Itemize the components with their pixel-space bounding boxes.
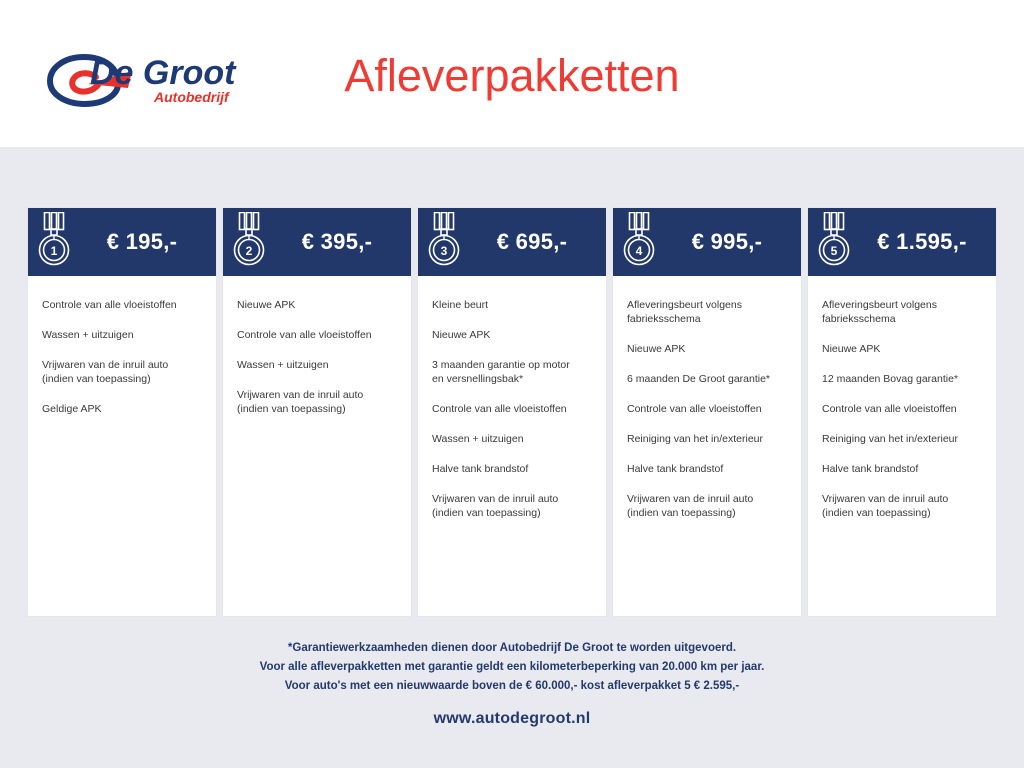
feature-item: Vrijwaren van de inruil auto (indien van… (237, 388, 397, 416)
medal-icon-4: 4 (623, 212, 659, 274)
feature-item: Vrijwaren van de inruil auto (indien van… (822, 492, 982, 520)
package-features-1: Controle van alle vloeistoffen Wassen + … (28, 276, 216, 616)
package-header-2: 2 € 395,- (223, 208, 411, 276)
package-features-4: Afleveringsbeurt volgens fabrieksschema … (613, 276, 801, 616)
feature-item: Wassen + uitzuigen (42, 328, 202, 342)
package-card-1[interactable]: 1 € 195,- Controle van alle vloeistoffen… (28, 208, 216, 616)
feature-item: 6 maanden De Groot garantie* (627, 372, 787, 386)
feature-item: Nieuwe APK (432, 328, 592, 342)
package-card-4[interactable]: 4 € 995,- Afleveringsbeurt volgens fabri… (613, 208, 801, 616)
package-card-5[interactable]: 5 € 1.595,- Afleveringsbeurt volgens fab… (808, 208, 996, 616)
package-cards-row: 1 € 195,- Controle van alle vloeistoffen… (28, 208, 996, 616)
feature-item: Halve tank brandstof (432, 462, 592, 476)
feature-item: Geldige APK (42, 402, 202, 416)
medal-number-5: 5 (831, 244, 838, 258)
feature-item: Controle van alle vloeistoffen (237, 328, 397, 342)
footer-line-2: Voor alle afleverpakketten met garantie … (0, 658, 1024, 677)
package-features-3: Kleine beurt Nieuwe APK 3 maanden garant… (418, 276, 606, 616)
feature-item: Controle van alle vloeistoffen (822, 402, 982, 416)
package-price-4: € 995,- (659, 229, 801, 255)
feature-item: Reiniging van het in/exterieur (627, 432, 787, 446)
feature-item: 12 maanden Bovag garantie* (822, 372, 982, 386)
feature-item: Nieuwe APK (627, 342, 787, 356)
feature-item: Vrijwaren van de inruil auto (indien van… (432, 492, 592, 520)
package-header-1: 1 € 195,- (28, 208, 216, 276)
feature-item: Reiniging van het in/exterieur (822, 432, 982, 446)
feature-item: Wassen + uitzuigen (432, 432, 592, 446)
package-card-3[interactable]: 3 € 695,- Kleine beurt Nieuwe APK 3 maan… (418, 208, 606, 616)
feature-item: Kleine beurt (432, 298, 592, 312)
medal-number-1: 1 (51, 244, 58, 258)
feature-item: 3 maanden garantie op motor en versnelli… (432, 358, 592, 386)
package-price-5: € 1.595,- (854, 229, 996, 255)
medal-number-2: 2 (246, 244, 253, 258)
medal-number-4: 4 (636, 244, 643, 258)
feature-item: Afleveringsbeurt volgens fabrieksschema (822, 298, 982, 326)
medal-number-3: 3 (441, 244, 448, 258)
page-title: Afleverpakketten (0, 50, 1024, 102)
package-features-5: Afleveringsbeurt volgens fabrieksschema … (808, 276, 996, 616)
package-price-1: € 195,- (74, 229, 216, 255)
package-price-2: € 395,- (269, 229, 411, 255)
feature-item: Vrijwaren van de inruil auto (indien van… (627, 492, 787, 520)
feature-item: Halve tank brandstof (822, 462, 982, 476)
package-card-2[interactable]: 2 € 395,- Nieuwe APK Controle van alle v… (223, 208, 411, 616)
feature-item: Halve tank brandstof (627, 462, 787, 476)
medal-icon-5: 5 (818, 212, 854, 274)
feature-item: Afleveringsbeurt volgens fabrieksschema (627, 298, 787, 326)
page-header: De Groot Autobedrijf Afleverpakketten (0, 0, 1024, 147)
feature-item: Controle van alle vloeistoffen (42, 298, 202, 312)
feature-item: Nieuwe APK (237, 298, 397, 312)
main-content: 1 € 195,- Controle van alle vloeistoffen… (0, 147, 1024, 768)
footer-disclaimer: *Garantiewerkzaamheden dienen door Autob… (0, 639, 1024, 696)
website-link[interactable]: www.autodegroot.nl (0, 710, 1024, 728)
feature-item: Vrijwaren van de inruil auto (indien van… (42, 358, 202, 386)
package-header-5: 5 € 1.595,- (808, 208, 996, 276)
footer-line-3: Voor auto's met een nieuwwaarde boven de… (0, 677, 1024, 696)
package-header-3: 3 € 695,- (418, 208, 606, 276)
package-header-4: 4 € 995,- (613, 208, 801, 276)
feature-item: Controle van alle vloeistoffen (627, 402, 787, 416)
package-price-3: € 695,- (464, 229, 606, 255)
medal-icon-1: 1 (38, 212, 74, 274)
footer-line-1: *Garantiewerkzaamheden dienen door Autob… (0, 639, 1024, 658)
medal-icon-2: 2 (233, 212, 269, 274)
feature-item: Controle van alle vloeistoffen (432, 402, 592, 416)
feature-item: Wassen + uitzuigen (237, 358, 397, 372)
medal-icon-3: 3 (428, 212, 464, 274)
package-features-2: Nieuwe APK Controle van alle vloeistoffe… (223, 276, 411, 616)
feature-item: Nieuwe APK (822, 342, 982, 356)
